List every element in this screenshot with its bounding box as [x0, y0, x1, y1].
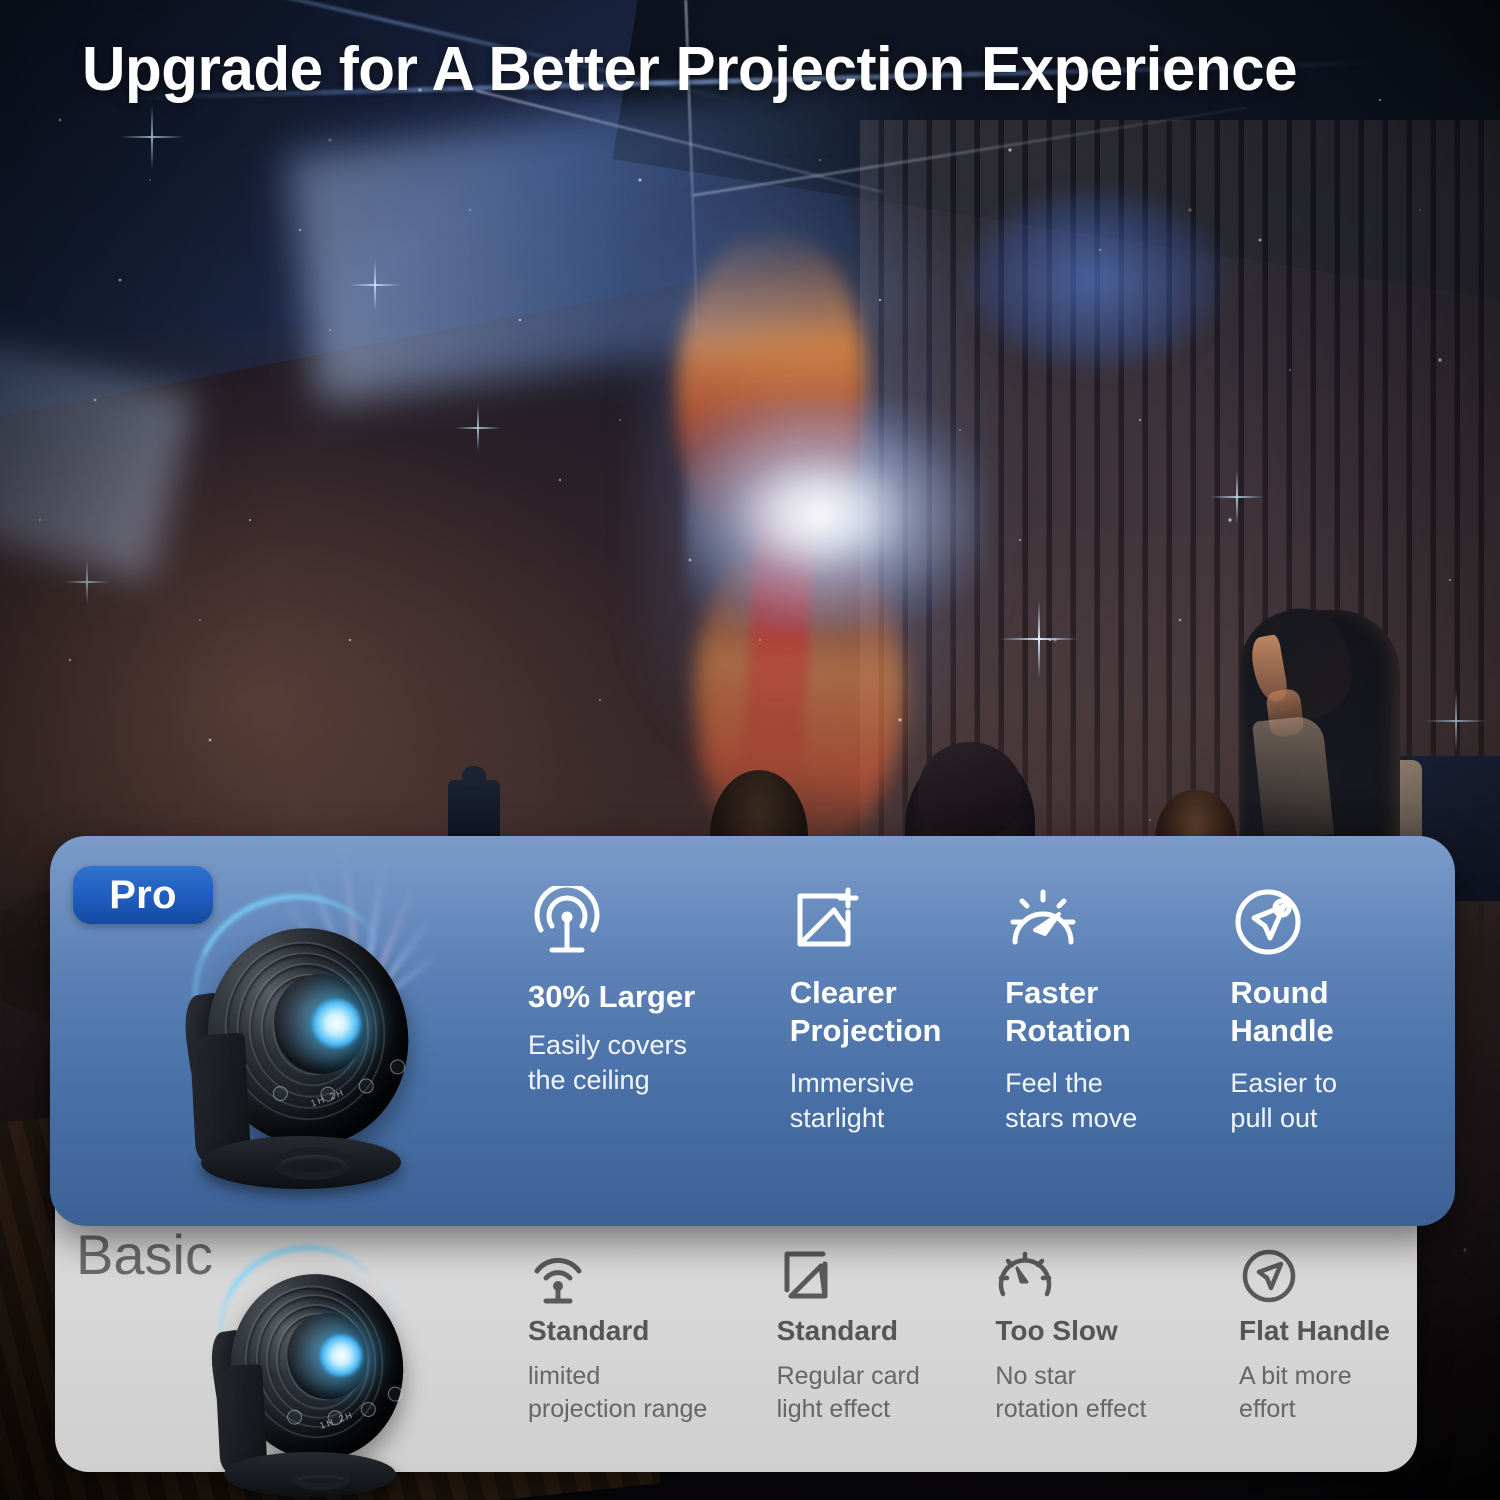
basic-feature-heading: Standard	[528, 1314, 777, 1348]
basic-feature-sub: No star rotation effect	[995, 1360, 1239, 1426]
pro-feature-heading: Round Handle	[1230, 974, 1428, 1050]
mode-button-icon	[359, 1401, 376, 1418]
basic-feature-column: Standard Regular card light effect	[777, 1248, 996, 1426]
basic-feature-sub: Regular card light effect	[777, 1360, 996, 1426]
circled-cursor-icon	[1230, 886, 1428, 972]
basic-feature-columns: Standard limited projection range Standa…	[528, 1248, 1428, 1426]
pro-feature-sub: Easier to pull out	[1230, 1066, 1428, 1136]
pro-feature-column: Round Handle Easier to pull out	[1230, 886, 1428, 1136]
basic-feature-heading: Flat Handle	[1239, 1314, 1428, 1348]
pro-feature-heading: Faster Rotation	[1005, 974, 1230, 1050]
broken-image-icon	[777, 1248, 996, 1312]
pro-feature-sub: Easily covers the ceiling	[528, 1028, 790, 1098]
pro-badge-label: Pro	[109, 873, 177, 918]
star-projector-basic-image: 1H 2H	[205, 1218, 420, 1500]
mode-button-icon	[357, 1077, 374, 1094]
pro-feature-columns: 30% Larger Easily covers the ceiling Cle…	[528, 886, 1428, 1136]
pro-feature-column: 30% Larger Easily covers the ceiling	[528, 886, 790, 1136]
basic-tier-label: Basic	[76, 1222, 213, 1287]
speedometer-slow-icon	[995, 1248, 1239, 1312]
pro-feature-heading: 30% Larger	[528, 978, 790, 1016]
power-button-icon	[286, 1408, 303, 1425]
pro-feature-sub: Immersive starlight	[790, 1066, 1005, 1136]
pro-feature-column: Clearer Projection Immersive starlight	[790, 886, 1005, 1136]
basic-feature-heading: Too Slow	[995, 1314, 1239, 1348]
basic-feature-column: Too Slow No star rotation effect	[995, 1248, 1239, 1426]
basic-feature-sub: limited projection range	[528, 1360, 777, 1426]
circled-cursor-icon	[1239, 1248, 1428, 1312]
projector-flat-handle-ring	[291, 1468, 351, 1491]
star-projector-pro-image: 1H 2H	[178, 862, 428, 1192]
speedometer-fast-icon	[1005, 886, 1230, 972]
pro-feature-sub: Feel the stars move	[1005, 1066, 1230, 1136]
pro-feature-heading: Clearer Projection	[790, 974, 1005, 1050]
basic-feature-sub: A bit more effort	[1239, 1360, 1428, 1426]
basic-feature-column: Flat Handle A bit more effort	[1239, 1248, 1428, 1426]
product-comparison-image: Upgrade for A Better Projection Experien…	[0, 0, 1500, 1500]
antenna-weak-icon	[528, 1248, 777, 1312]
pro-feature-column: Faster Rotation Feel the stars move	[1005, 886, 1230, 1136]
basic-feature-heading: Standard	[777, 1314, 996, 1348]
basic-feature-column: Standard limited projection range	[528, 1248, 777, 1426]
page-title: Upgrade for A Better Projection Experien…	[82, 34, 1392, 105]
power-button-icon	[272, 1085, 289, 1102]
broadcast-signal-icon	[528, 886, 790, 972]
image-plus-icon	[790, 886, 1005, 972]
